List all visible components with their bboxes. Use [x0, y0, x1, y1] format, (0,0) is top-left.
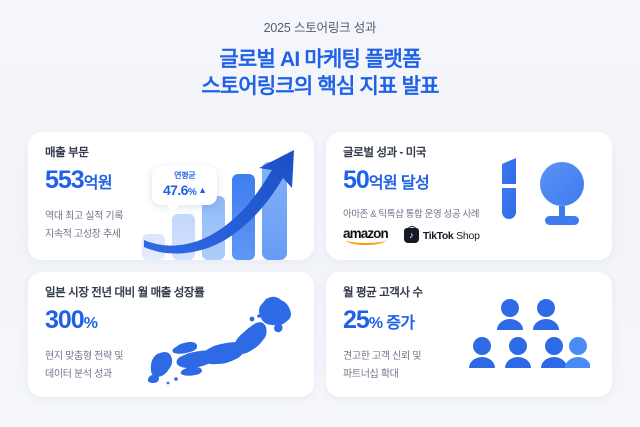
tiktok-wordmark: TikTok Shop — [423, 230, 480, 242]
stat-unit: 억원 달성 — [369, 175, 429, 192]
card-desc-global-us: 아마존 & 틱톡샵 통합 운영 성공 사례 — [343, 206, 612, 220]
desc-line: 데이터 분석 성과 — [45, 366, 314, 385]
card-desc-japan: 현지 맞춤형 전략 및 데이터 분석 성과 — [45, 348, 314, 385]
music-note-glyph: ♪ — [409, 231, 414, 240]
card-desc-clients: 견고한 고객 신뢰 및 파트너십 확대 — [343, 348, 612, 385]
desc-line: 지속적 고성장 추세 — [45, 226, 314, 245]
desc-line: 역대 최고 실적 기록 — [45, 208, 314, 227]
card-label-revenue: 매출 부문 — [45, 147, 314, 161]
average-growth-badge: 연평균 47.6%▲ — [152, 166, 217, 205]
eyebrow-text: 2025 스토어링크 성과 — [0, 20, 640, 38]
badge-percent: % — [188, 187, 196, 198]
stat-value: 50 — [343, 166, 369, 194]
metric-card-grid: 매출 부문 553억원 역대 최고 실적 기록 지속적 고성장 추세 연평균 4… — [28, 132, 612, 397]
stat-value: 300 — [45, 306, 84, 334]
metric-card-clients: 월 평균 고객사 수 25% 증가 견고한 고객 신뢰 및 파트너십 확대 — [326, 272, 612, 397]
badge-number: 47.6 — [163, 182, 188, 198]
card-label-global-us: 글로벌 성과 - 미국 — [343, 147, 612, 161]
metric-card-global-us: 글로벌 성과 - 미국 50억원 달성 아마존 & 틱톡샵 통합 운영 성공 사… — [326, 132, 612, 260]
stat-unit: % 증가 — [369, 315, 415, 332]
up-arrow-icon: ▲ — [198, 186, 206, 195]
tiktok-name: TikTok — [423, 230, 453, 242]
headline-line-1: 글로벌 AI 마케팅 플랫폼 — [0, 46, 640, 74]
metric-card-revenue: 매출 부문 553억원 역대 최고 실적 기록 지속적 고성장 추세 연평균 4… — [28, 132, 314, 260]
card-stat-global-us: 50억원 달성 — [343, 166, 612, 195]
tiktok-shop-word: Shop — [453, 230, 479, 242]
badge-label: 연평균 — [163, 172, 206, 181]
card-stat-japan: 300% — [45, 306, 314, 335]
desc-line: 견고한 고객 신뢰 및 — [343, 348, 612, 367]
stat-value: 553 — [45, 166, 84, 194]
partner-logo-row: amazon ♪ TikTok Shop — [343, 227, 612, 246]
stat-unit: 억원 — [84, 175, 112, 192]
card-desc-revenue: 역대 최고 실적 기록 지속적 고성장 추세 — [45, 208, 314, 245]
page-title: 글로벌 AI 마케팅 플랫폼 스토어링크의 핵심 지표 발표 — [0, 46, 640, 102]
stat-unit: % — [84, 315, 98, 332]
desc-line: 현지 맞춤형 전략 및 — [45, 348, 314, 367]
card-stat-clients: 25% 증가 — [343, 306, 612, 335]
card-label-japan: 일본 시장 전년 대비 월 매출 성장률 — [45, 287, 314, 301]
badge-value: 47.6%▲ — [163, 183, 206, 198]
poster-header: 2025 스토어링크 성과 글로벌 AI 마케팅 플랫폼 스토어링크의 핵심 지… — [0, 0, 640, 101]
desc-line: 파트너십 확대 — [343, 366, 612, 385]
tiktok-bag-icon: ♪ — [404, 228, 419, 243]
tiktok-shop-logo: ♪ TikTok Shop — [404, 228, 480, 243]
amazon-logo: amazon — [343, 227, 388, 246]
stat-value: 25 — [343, 306, 369, 334]
card-label-clients: 월 평균 고객사 수 — [343, 287, 612, 301]
amazon-smile-icon — [346, 239, 386, 245]
headline-line-2: 스토어링크의 핵심 지표 발표 — [0, 73, 640, 101]
infographic-poster: 2025 스토어링크 성과 글로벌 AI 마케팅 플랫폼 스토어링크의 핵심 지… — [0, 0, 640, 427]
metric-card-japan: 일본 시장 전년 대비 월 매출 성장률 300% 현지 맞춤형 전략 및 데이… — [28, 272, 314, 397]
